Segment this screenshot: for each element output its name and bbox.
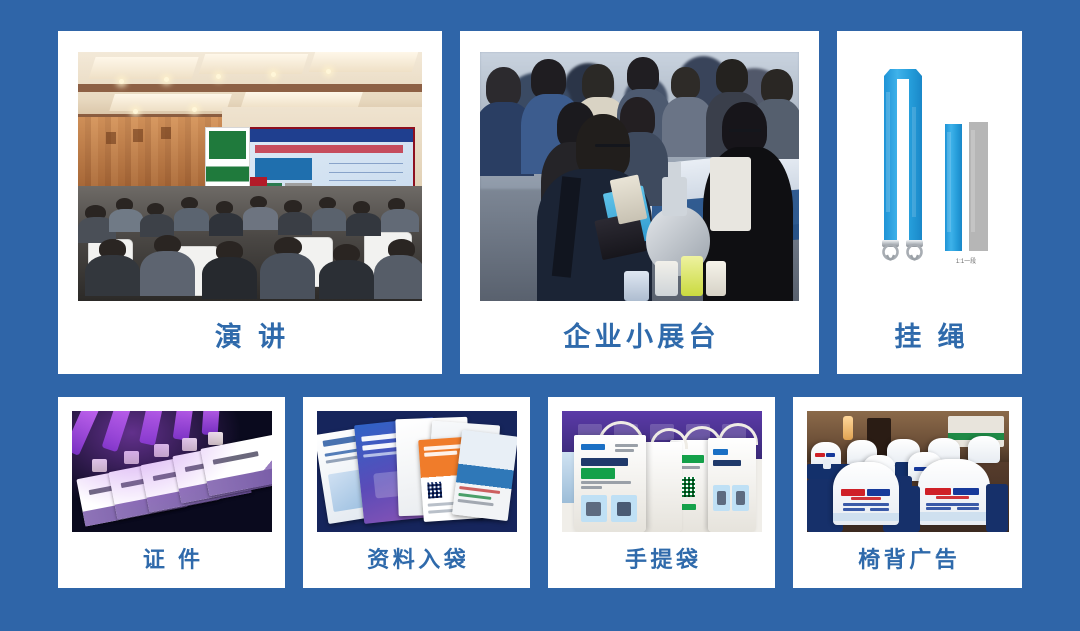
lanyard-illustration: 1:1一段 bbox=[854, 52, 1006, 301]
chair-back-ad-photo bbox=[807, 411, 1009, 532]
chair-cover-front-right bbox=[918, 459, 991, 524]
card-chairad[interactable]: 椅背广告 bbox=[793, 397, 1022, 588]
tote-bag-photo bbox=[562, 411, 762, 532]
audience bbox=[78, 186, 422, 301]
card-label-speech: 演 讲 bbox=[211, 301, 290, 374]
tote-line-1 bbox=[581, 458, 629, 466]
card-badge[interactable]: 证 件 bbox=[58, 397, 285, 588]
card-speech[interactable]: 演 讲 bbox=[58, 31, 442, 374]
card-lanyard[interactable]: 1:1一段 挂 绳 bbox=[837, 31, 1022, 374]
card-label-kit: 资料入袋 bbox=[364, 532, 470, 588]
exhibition-booth-photo bbox=[480, 52, 799, 301]
poster-canvas: 演 讲 bbox=[0, 0, 1080, 631]
name-badge-photo bbox=[72, 411, 272, 532]
card-label-totebag: 手提袋 bbox=[621, 532, 701, 588]
card-label-booth: 企业小展台 bbox=[559, 301, 720, 374]
card-label-chairad: 椅背广告 bbox=[855, 532, 961, 588]
tote-line-2 bbox=[581, 468, 616, 479]
card-kit[interactable]: 资料入袋 bbox=[303, 397, 530, 588]
card-label-lanyard: 挂 绳 bbox=[890, 301, 969, 374]
tote-line-3 bbox=[581, 481, 631, 484]
chair-cover-front-left bbox=[833, 462, 900, 525]
conference-hall-photo bbox=[78, 52, 422, 301]
swatch-caption: 1:1一段 bbox=[955, 257, 975, 265]
card-label-badge: 证 件 bbox=[139, 532, 203, 588]
card-totebag[interactable]: 手提袋 bbox=[548, 397, 775, 588]
lanyard-photo: 1:1一段 bbox=[854, 52, 1006, 301]
card-booth[interactable]: 企业小展台 bbox=[460, 31, 819, 374]
brochure-kit-photo bbox=[317, 411, 517, 532]
